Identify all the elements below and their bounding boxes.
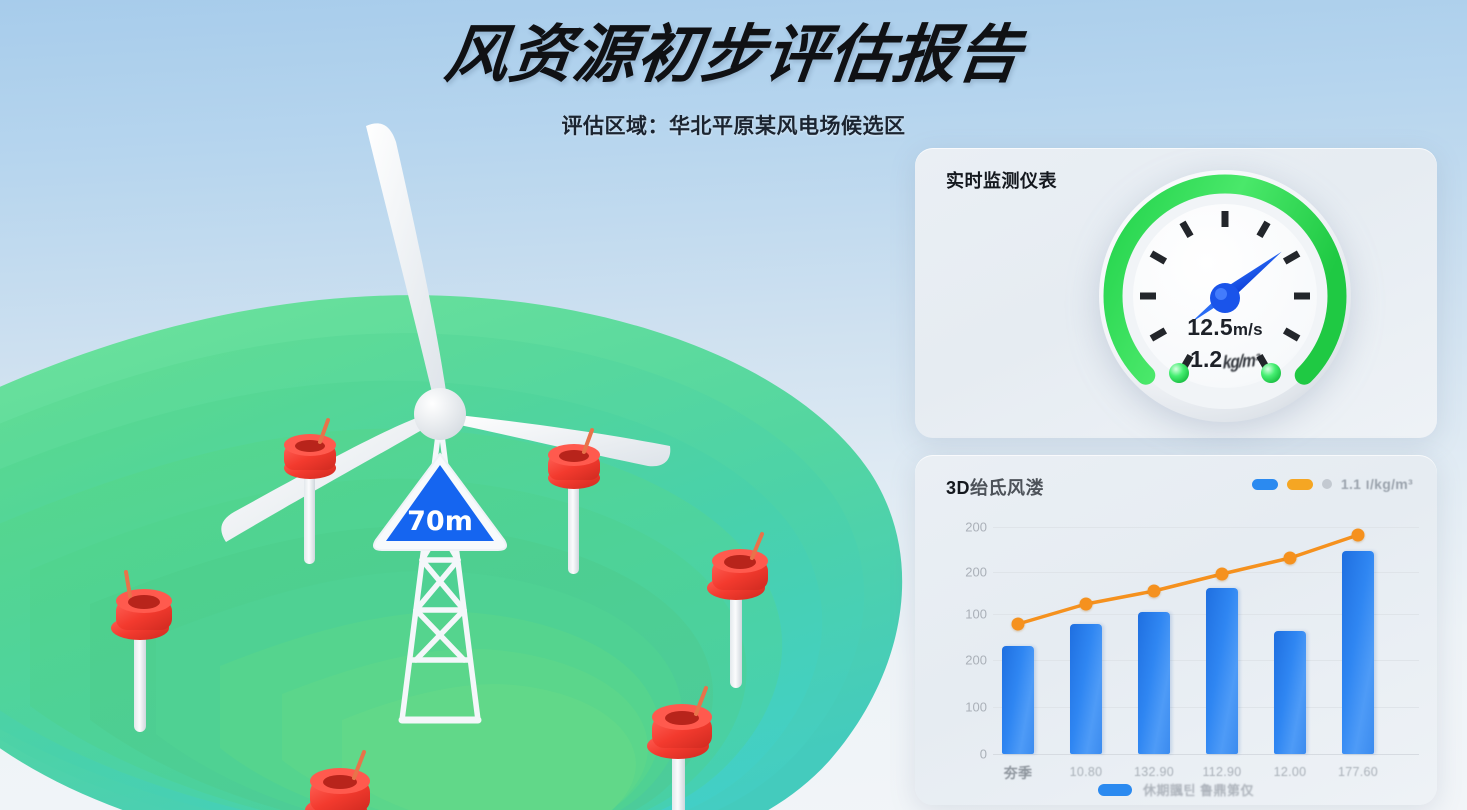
legend-bottom-swatch <box>1098 784 1132 796</box>
chart-legend-bottom[interactable]: 休期颽틴 鲁鼎第仅 <box>915 780 1437 799</box>
wind-speed-gauge: 12.5m/s 1.2kg/m³ <box>1091 166 1359 432</box>
trend-point-2[interactable] <box>1148 585 1161 598</box>
chart-title-prefix: 3D <box>946 478 970 498</box>
legend-bottom-label: 休期颽틴 鲁鼎第仅 <box>1143 780 1254 799</box>
air-density-readout: 1.2kg/m³ <box>1091 346 1359 373</box>
chart-title-garbled: 绐氐风溇 <box>970 478 1044 498</box>
legend-swatch-orange <box>1287 479 1313 490</box>
chart-card-title: 3D绐氐风溇 <box>946 474 1044 500</box>
svg-text:70m: 70m <box>407 506 473 537</box>
wind-speed-value: 12.5 <box>1187 314 1233 340</box>
chart-plot-area: 200 200 100 200 100 0 <box>915 507 1437 762</box>
trend-line <box>915 507 1437 762</box>
x-tick: 12.00 <box>1274 765 1307 779</box>
terrain-illustration: 70m <box>0 120 910 810</box>
x-tick: 177.60 <box>1338 765 1378 779</box>
trend-point-3[interactable] <box>1216 568 1229 581</box>
x-tick: 10.80 <box>1070 765 1103 779</box>
legend-swatch-gray <box>1322 479 1332 489</box>
wind-speed-readout: 12.5m/s <box>1091 314 1359 341</box>
gauge-card-title: 实时监测仪表 <box>946 167 1057 193</box>
trend-point-0[interactable] <box>1012 618 1025 631</box>
turbine-hub <box>414 388 466 440</box>
air-density-unit: kg/m³ <box>1221 352 1260 375</box>
realtime-gauge-card: 实时监测仪表 <box>915 148 1437 438</box>
terrain-windspeed-chart-card: 3D绐氐风溇 ו 1.1/kg/m³ 200 200 100 200 100 0 <box>915 455 1437 805</box>
wind-speed-unit: m/s <box>1233 320 1263 339</box>
air-density-value: 1.2 <box>1190 346 1222 372</box>
trend-point-4[interactable] <box>1284 552 1297 565</box>
trend-point-1[interactable] <box>1080 598 1093 611</box>
trend-point-5[interactable] <box>1352 529 1365 542</box>
report-canvas: 风资源初步评估报告 评估区域：华北平原某风电场候选区 <box>0 0 1467 810</box>
x-tick: 112.90 <box>1202 765 1241 779</box>
legend-top-label: ו 1.1/kg/m³ <box>1341 476 1413 492</box>
chart-legend-top[interactable]: ו 1.1/kg/m³ <box>1252 476 1413 492</box>
page-title: 风资源初步评估报告 <box>0 22 1467 88</box>
legend-swatch-blue <box>1252 479 1278 490</box>
x-tick: 132.90 <box>1134 765 1174 779</box>
